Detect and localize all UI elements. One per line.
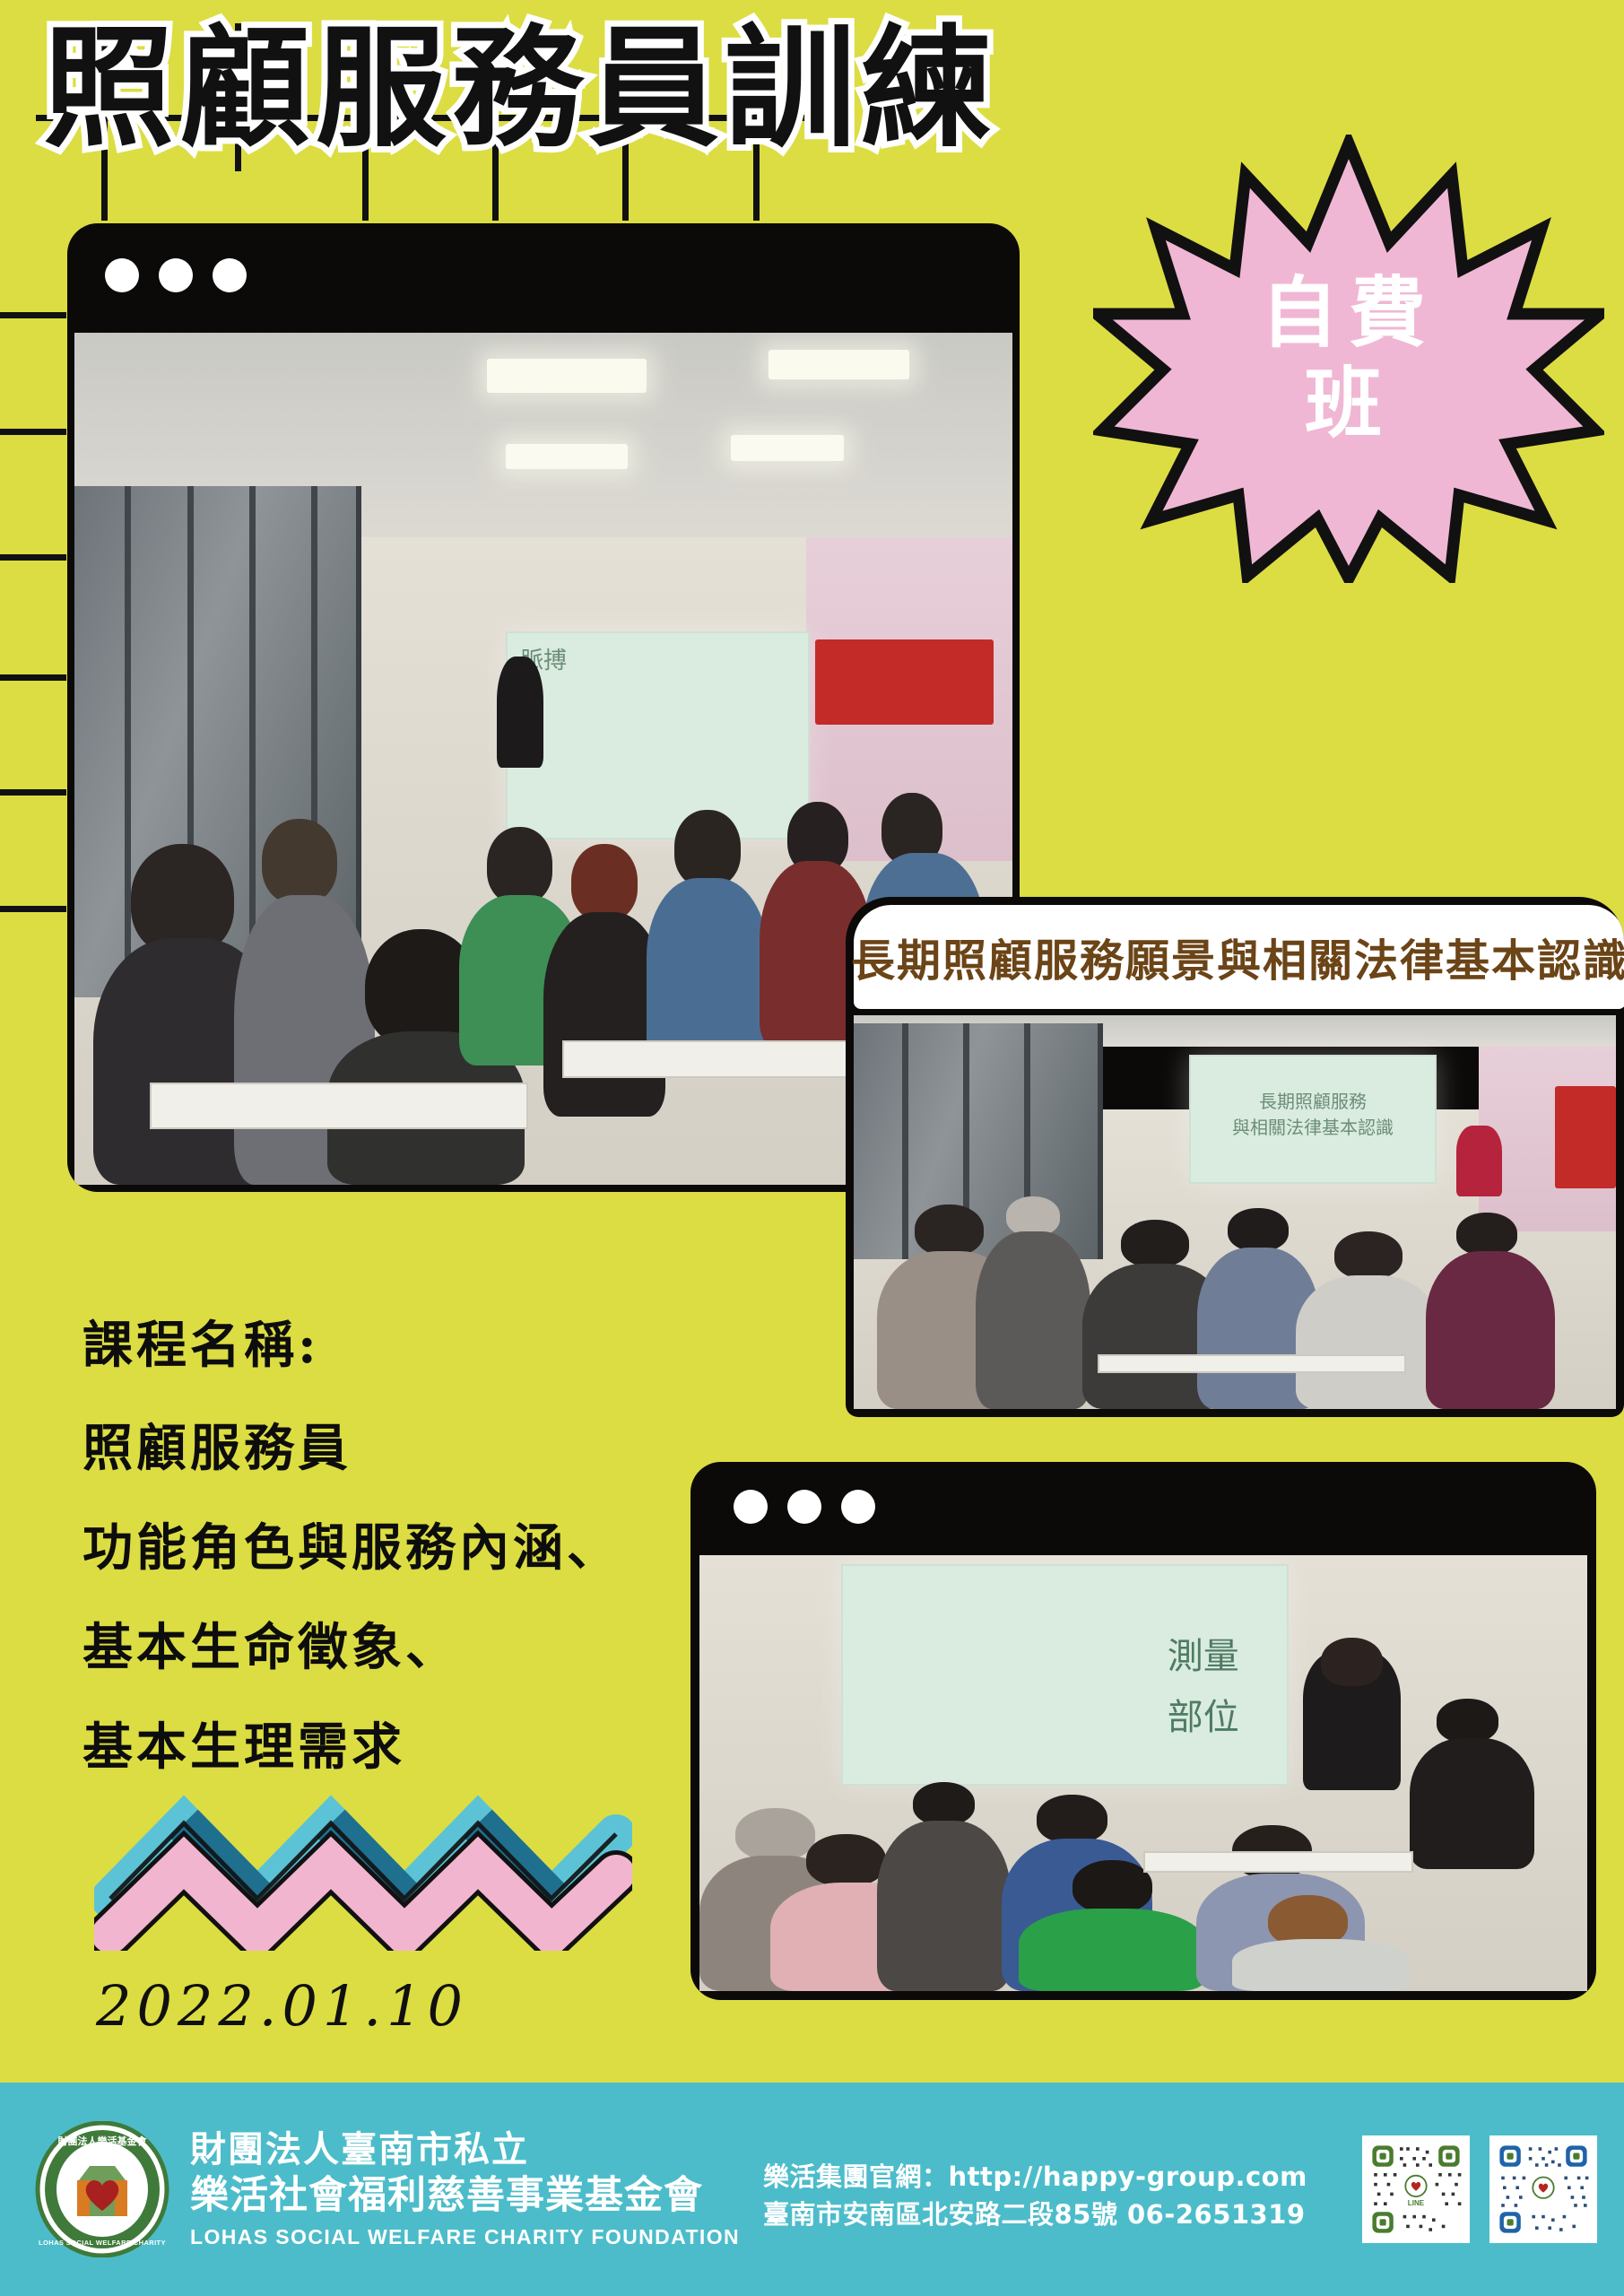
window-dot-icon — [787, 1490, 821, 1524]
page-title: 照顧服務員訓練 — [43, 20, 997, 157]
zigzag-decoration — [94, 1780, 632, 1951]
svg-text:LINE: LINE — [1408, 2199, 1425, 2207]
qr-code-group: LINE — [1362, 2135, 1597, 2243]
lohas-foundation-logo: 財團法人樂活基金會 LOHAS SOCIAL WELFARE CHARITY — [34, 2121, 170, 2257]
course-line-3: 基本生命徵象、 — [83, 1607, 621, 1680]
window-titlebar — [67, 223, 1020, 327]
self-paid-class-starburst: 自費 班 — [1093, 135, 1604, 583]
starburst-shape — [1097, 143, 1601, 578]
org-english-name: LOHAS SOCIAL WELFARE CHARITY FOUNDATION — [190, 2225, 740, 2249]
course-line-2: 功能角色與服務內涵、 — [83, 1508, 621, 1580]
window-dot-icon — [105, 258, 139, 292]
window-dot-icon — [159, 258, 193, 292]
org-line-1: 財團法人臺南市私立 — [190, 2129, 740, 2170]
course-line-1: 照顧服務員 — [83, 1408, 621, 1481]
pulse-measurement-photo-frame: 測量 部位 — [690, 1462, 1596, 2000]
slide-caption-pulse: 脈搏 — [508, 633, 808, 684]
line-qr-code[interactable]: LINE — [1362, 2135, 1470, 2243]
window-dot-icon — [841, 1490, 875, 1524]
organization-name-block: 財團法人臺南市私立 樂活社會福利慈善事業基金會 LOHAS SOCIAL WEL… — [190, 2129, 740, 2249]
event-date: 2022.01.10 — [96, 1973, 468, 2039]
photo-caption-bar: 長期照顧服務願景與相關法律基本認識 — [854, 905, 1624, 1009]
svg-text:財團法人樂活基金會: 財團法人樂活基金會 — [57, 2135, 148, 2147]
lecture-photo: 長期照顧服務與相關法律基本認識 — [854, 1015, 1616, 1409]
slide-label-location: 部位 — [1155, 1679, 1252, 1749]
window-dot-icon — [213, 258, 247, 292]
course-name-heading: 課程名稱: — [83, 1305, 621, 1378]
lecture-photo-frame: 長期照顧服務願景與相關法律基本認識 長期照顧服務與相關法律基本認識 — [846, 897, 1624, 1417]
window-titlebar — [690, 1462, 1596, 1552]
poster-root: 照顧服務員訓練 — [0, 0, 1624, 2296]
contact-info-block: 樂活集團官網：http://happy-group.com 臺南市安南區北安路二… — [763, 2158, 1307, 2233]
address-and-phone: 臺南市安南區北安路二段85號 06-2651319 — [763, 2196, 1307, 2233]
svg-text:LOHAS SOCIAL WELFARE CHARITY: LOHAS SOCIAL WELFARE CHARITY — [39, 2239, 166, 2247]
pulse-measurement-photo: 測量 部位 — [699, 1555, 1587, 1991]
window-dot-icon — [734, 1490, 768, 1524]
website-label[interactable]: 樂活集團官網：http://happy-group.com — [763, 2158, 1307, 2196]
photo-caption-text: 長期照顧服務願景與相關法律基本認識 — [851, 926, 1624, 989]
footer-bar: 財團法人樂活基金會 LOHAS SOCIAL WELFARE CHARITY 財… — [0, 2083, 1624, 2296]
slide-label-measure: 測量 — [1155, 1618, 1252, 1688]
org-line-2: 樂活社會福利慈善事業基金會 — [190, 2174, 740, 2218]
course-line-4: 基本生理需求 — [83, 1707, 621, 1779]
course-info-block: 課程名稱: 照顧服務員 功能角色與服務內涵、 基本生命徵象、 基本生理需求 — [83, 1305, 621, 1806]
website-qr-code[interactable] — [1489, 2135, 1597, 2243]
